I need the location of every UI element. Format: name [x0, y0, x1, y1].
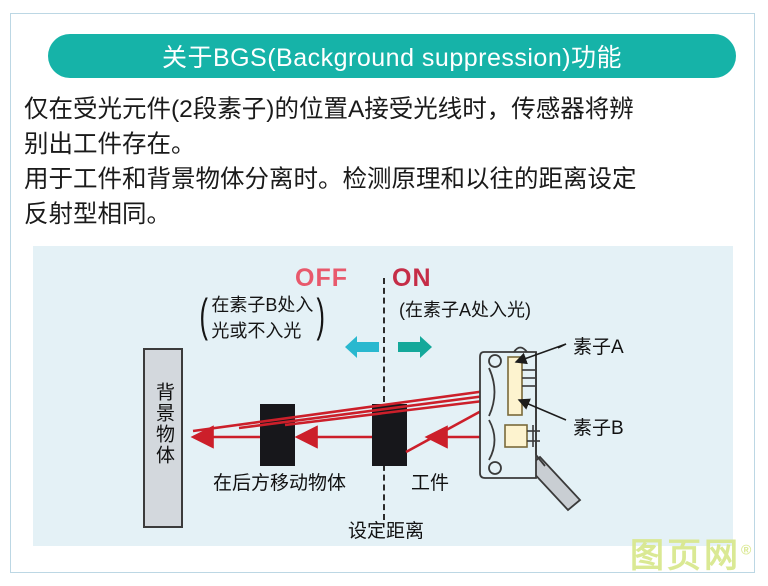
body-line-4: 反射型相同。 [24, 197, 748, 232]
state-note-on: (在素子A处入光) [399, 296, 531, 322]
arrow-left-icon [345, 335, 379, 359]
watermark-registered-icon: ® [741, 542, 754, 558]
workpiece-block [372, 404, 407, 466]
state-label-on: ON [392, 264, 432, 293]
moving-object-caption: 在后方移动物体 [213, 468, 346, 495]
state-note-off-line-2: 光或不入光 [211, 321, 301, 341]
state-note-off: (在素子B处入光或不入光) [196, 292, 329, 344]
workpiece-caption: 工件 [411, 468, 449, 495]
state-note-off-line-1: 在素子B处入 [211, 295, 313, 315]
watermark: 图页网® [630, 528, 754, 577]
watermark-text: 图页网 [630, 537, 741, 575]
element-b-label: 素子B [573, 413, 624, 440]
paren-close-icon: ) [317, 292, 325, 338]
header-banner: 关于BGS(Background suppression)功能 [48, 34, 736, 78]
moving-object-block [260, 404, 295, 466]
set-distance-dashed-line [383, 278, 385, 520]
page-root: 关于BGS(Background suppression)功能 仅在受光元件(2… [0, 0, 768, 586]
page-title: 关于BGS(Background suppression)功能 [162, 38, 622, 74]
body-text-block: 仅在受光元件(2段素子)的位置A接受光线时，传感器将辨 别出工件存在。 用于工件… [24, 92, 748, 232]
body-line-2: 别出工件存在。 [24, 127, 748, 162]
element-a-label: 素子A [573, 332, 624, 359]
state-note-off-lines: 在素子B处入光或不入光 [211, 292, 313, 344]
background-object-label: 背景物体 [152, 382, 174, 466]
paren-open-icon: ( [199, 292, 207, 338]
body-line-3: 用于工件和背景物体分离时。检测原理和以往的距离设定 [24, 162, 748, 197]
set-distance-caption: 设定距离 [348, 516, 424, 543]
arrow-right-icon [398, 335, 432, 359]
body-line-1: 仅在受光元件(2段素子)的位置A接受光线时，传感器将辨 [24, 92, 748, 127]
